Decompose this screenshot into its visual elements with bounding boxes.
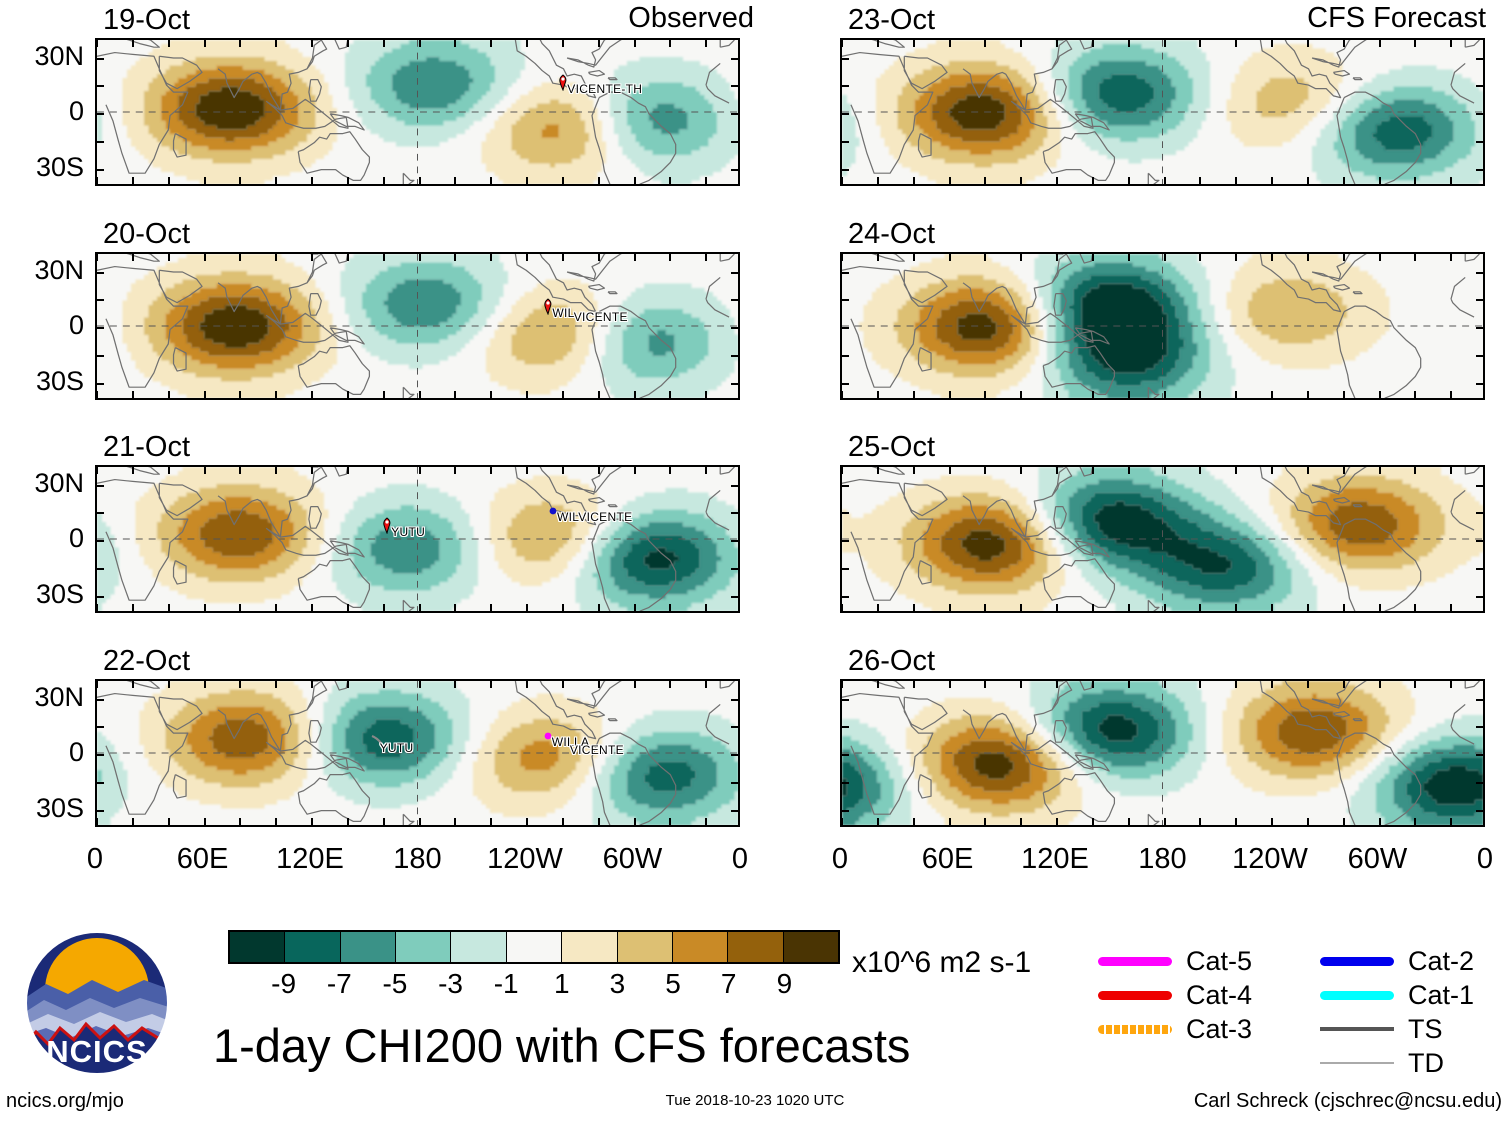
map-frame (840, 38, 1485, 186)
x-tick (454, 604, 456, 613)
x-axis-label: 180 (1108, 845, 1218, 874)
x-tick (1307, 604, 1309, 613)
y-tick (95, 169, 104, 171)
colorbar-segment (451, 932, 506, 962)
x-tick (347, 679, 349, 688)
storm-label: WILVICENTE (557, 511, 632, 523)
x-tick (1379, 38, 1381, 47)
y-tick (1476, 754, 1485, 756)
y-axis-label: 30S (0, 154, 84, 181)
y-tick (840, 383, 849, 385)
map-frame (840, 465, 1485, 613)
storm-category-legend-left: Cat-5Cat-4Cat-3 (1098, 944, 1252, 1046)
x-tick (634, 818, 636, 827)
y-tick (1476, 512, 1485, 514)
x-tick (705, 391, 707, 400)
y-tick (1476, 272, 1485, 274)
x-tick (490, 391, 492, 400)
colorbar-tick-label: -7 (309, 970, 369, 998)
x-tick (1020, 604, 1022, 613)
y-axis-label: 30N (0, 43, 84, 70)
x-tick (96, 391, 98, 400)
y-tick (95, 782, 104, 784)
x-tick (1164, 465, 1166, 474)
velocity-potential-field (97, 254, 738, 398)
x-tick (1056, 465, 1058, 474)
x-tick (1307, 391, 1309, 400)
x-tick (1056, 177, 1058, 186)
x-tick (454, 391, 456, 400)
x-tick (1450, 465, 1452, 474)
x-tick (1020, 818, 1022, 827)
x-tick (1271, 679, 1273, 688)
x-tick (562, 679, 564, 688)
y-tick (840, 754, 849, 756)
x-tick (1020, 38, 1022, 47)
y-tick (731, 141, 740, 143)
x-tick (1020, 391, 1022, 400)
panel-date-label: 25-Oct (848, 433, 935, 462)
x-axis-label: 120W (470, 845, 580, 874)
map-panel-25-oct: 25-Oct (840, 465, 1485, 613)
x-axis-label: 120E (1000, 845, 1110, 874)
y-tick (840, 540, 849, 542)
x-tick (383, 177, 385, 186)
y-axis-label: 30N (0, 684, 84, 711)
x-tick (598, 391, 600, 400)
x-tick (1271, 465, 1273, 474)
x-tick (347, 391, 349, 400)
x-tick (1164, 391, 1166, 400)
column-header-observed: Observed (628, 4, 754, 33)
y-tick (1476, 726, 1485, 728)
x-tick (598, 465, 600, 474)
x-tick (1199, 818, 1201, 827)
x-tick (841, 38, 843, 47)
x-tick (1271, 604, 1273, 613)
x-tick (168, 465, 170, 474)
x-tick (949, 465, 951, 474)
x-tick (562, 604, 564, 613)
x-tick (1092, 177, 1094, 186)
mjo-chi200-figure: 19-OctVICENTE-TH20-OctWILVICENTE21-OctYU… (0, 0, 1510, 1121)
x-tick (454, 177, 456, 186)
y-tick (731, 299, 740, 301)
x-tick (490, 604, 492, 613)
x-tick (275, 38, 277, 47)
x-tick (204, 391, 206, 400)
x-tick (204, 38, 206, 47)
x-tick (275, 604, 277, 613)
legend-row-cat-5: Cat-5 (1098, 944, 1252, 978)
x-tick (204, 679, 206, 688)
y-tick (840, 355, 849, 357)
colorbar-segment (562, 932, 617, 962)
x-tick (877, 604, 879, 613)
x-tick (1199, 252, 1201, 261)
legend-row-cat-2: Cat-2 (1320, 944, 1474, 978)
x-tick (490, 465, 492, 474)
y-tick (95, 540, 104, 542)
map-panel-20-oct: 20-OctWILVICENTE (95, 252, 740, 400)
y-axis-label: 30N (0, 470, 84, 497)
x-tick (1092, 391, 1094, 400)
colorbar: -9-7-5-3-113579 (228, 930, 840, 1030)
y-tick (1476, 327, 1485, 329)
x-tick (311, 679, 313, 688)
x-tick (1343, 679, 1345, 688)
colorbar-segment (230, 932, 285, 962)
x-tick (490, 252, 492, 261)
x-tick (984, 679, 986, 688)
y-tick (1476, 169, 1485, 171)
x-tick (239, 252, 241, 261)
x-tick (1235, 252, 1237, 261)
y-axis-label: 0 (0, 98, 84, 125)
x-tick (1414, 177, 1416, 186)
x-tick (877, 465, 879, 474)
legend-color-swatch (1098, 957, 1172, 966)
x-tick (1128, 679, 1130, 688)
footer-timestamp: Tue 2018-10-23 1020 UTC (666, 1093, 845, 1108)
legend-label: TD (1408, 1050, 1444, 1077)
x-tick (1450, 604, 1452, 613)
colorbar-segment (728, 932, 783, 962)
legend-color-swatch (1098, 1025, 1172, 1034)
x-tick (96, 38, 98, 47)
storm-label: VICENTE (570, 744, 624, 756)
legend-row-cat-3: Cat-3 (1098, 1012, 1252, 1046)
x-tick (1128, 391, 1130, 400)
x-tick (454, 818, 456, 827)
x-tick (913, 818, 915, 827)
x-tick (1092, 679, 1094, 688)
x-tick (1450, 177, 1452, 186)
map-panel-26-oct: 26-Oct (840, 679, 1485, 827)
x-tick (383, 604, 385, 613)
y-tick (840, 85, 849, 87)
y-tick (1476, 85, 1485, 87)
panel-date-label: 24-Oct (848, 220, 935, 249)
y-tick (95, 699, 104, 701)
y-tick (731, 383, 740, 385)
x-tick (311, 391, 313, 400)
x-tick (1379, 679, 1381, 688)
x-tick (913, 465, 915, 474)
x-tick (1307, 252, 1309, 261)
colorbar-units-label: x10^6 m2 s-1 (852, 948, 1031, 978)
colorbar-tick-label: 1 (532, 970, 592, 998)
x-tick (204, 465, 206, 474)
x-tick (913, 252, 915, 261)
x-tick (132, 604, 134, 613)
x-tick (913, 391, 915, 400)
x-tick (204, 177, 206, 186)
y-tick (95, 58, 104, 60)
storm-category-legend-right: Cat-2Cat-1TSTD (1320, 944, 1474, 1080)
x-tick (347, 252, 349, 261)
x-tick (669, 177, 671, 186)
x-tick (562, 391, 564, 400)
x-tick (1128, 604, 1130, 613)
x-tick (132, 818, 134, 827)
x-tick (419, 679, 421, 688)
y-tick (95, 113, 104, 115)
x-tick (949, 252, 951, 261)
x-tick (347, 465, 349, 474)
colorbar-tick-label: 3 (587, 970, 647, 998)
x-tick (841, 604, 843, 613)
storm-label: WIL (552, 307, 574, 319)
x-tick (984, 252, 986, 261)
x-tick (1199, 679, 1201, 688)
x-axis-label: 120E (255, 845, 365, 874)
map-frame (840, 679, 1485, 827)
map-panel-24-oct: 24-Oct (840, 252, 1485, 400)
x-tick (705, 818, 707, 827)
x-tick (598, 177, 600, 186)
x-tick (1092, 818, 1094, 827)
x-tick (490, 38, 492, 47)
x-axis-label: 120W (1215, 845, 1325, 874)
x-tick (1450, 252, 1452, 261)
x-tick (669, 604, 671, 613)
y-tick (95, 726, 104, 728)
x-tick (984, 391, 986, 400)
y-axis-label: 30S (0, 581, 84, 608)
panel-date-label: 20-Oct (103, 220, 190, 249)
x-tick (383, 818, 385, 827)
x-tick (669, 465, 671, 474)
x-tick (1307, 818, 1309, 827)
footer-site-link[interactable]: ncics.org/mjo (6, 1091, 124, 1111)
x-tick (96, 679, 98, 688)
x-tick (383, 465, 385, 474)
y-tick (840, 512, 849, 514)
footer-author[interactable]: Carl Schreck (cjschrec@ncsu.edu) (1194, 1091, 1502, 1111)
panel-date-label: 22-Oct (103, 647, 190, 676)
map-frame (95, 38, 740, 186)
x-tick (1414, 38, 1416, 47)
x-tick (347, 38, 349, 47)
x-tick (168, 818, 170, 827)
x-tick (132, 38, 134, 47)
x-tick (841, 391, 843, 400)
x-tick (1235, 604, 1237, 613)
x-tick (311, 38, 313, 47)
map-panel-19-oct: 19-OctVICENTE-TH (95, 38, 740, 186)
x-tick (132, 177, 134, 186)
x-tick (526, 818, 528, 827)
x-tick (1379, 465, 1381, 474)
y-axis-label: 30S (0, 795, 84, 822)
legend-label: Cat-4 (1186, 982, 1252, 1009)
x-tick (311, 818, 313, 827)
y-tick (731, 596, 740, 598)
x-tick (1092, 604, 1094, 613)
x-tick (562, 465, 564, 474)
y-tick (731, 568, 740, 570)
x-tick (705, 604, 707, 613)
velocity-potential-field (97, 681, 738, 825)
x-tick (419, 818, 421, 827)
x-tick (1271, 177, 1273, 186)
x-tick (1199, 604, 1201, 613)
x-tick (168, 391, 170, 400)
x-tick (526, 252, 528, 261)
x-tick (1450, 818, 1452, 827)
x-tick (239, 818, 241, 827)
x-tick (598, 679, 600, 688)
x-tick (598, 604, 600, 613)
x-tick (949, 391, 951, 400)
x-tick (598, 252, 600, 261)
x-axis-label: 60W (1323, 845, 1433, 874)
y-tick (731, 327, 740, 329)
map-panel-23-oct: 23-Oct (840, 38, 1485, 186)
x-tick (132, 391, 134, 400)
x-tick (1414, 391, 1416, 400)
x-tick (96, 177, 98, 186)
x-tick (1020, 465, 1022, 474)
x-axis-label: 60E (148, 845, 258, 874)
y-tick (95, 568, 104, 570)
y-tick (1476, 810, 1485, 812)
y-tick (840, 568, 849, 570)
y-tick (1476, 141, 1485, 143)
x-tick (634, 38, 636, 47)
x-tick (454, 38, 456, 47)
colorbar-tick-label: 7 (699, 970, 759, 998)
x-tick (275, 818, 277, 827)
map-panel-22-oct: 22-OctYUTUWILLAVICENTE (95, 679, 740, 827)
x-tick (1128, 252, 1130, 261)
x-tick (877, 38, 879, 47)
legend-color-swatch (1320, 1027, 1394, 1031)
colorbar-segment (285, 932, 340, 962)
y-axis-label: 0 (0, 312, 84, 339)
y-tick (95, 512, 104, 514)
y-tick (840, 113, 849, 115)
y-tick (840, 58, 849, 60)
velocity-potential-field (97, 467, 738, 611)
colorbar-segment (507, 932, 562, 962)
x-tick (490, 818, 492, 827)
panel-date-label: 19-Oct (103, 6, 190, 35)
x-tick (1271, 391, 1273, 400)
x-tick (705, 679, 707, 688)
x-tick (1056, 252, 1058, 261)
x-tick (347, 177, 349, 186)
legend-label: Cat-1 (1408, 982, 1474, 1009)
y-tick (731, 699, 740, 701)
y-tick (840, 169, 849, 171)
y-tick (95, 810, 104, 812)
x-tick (841, 818, 843, 827)
y-tick (840, 782, 849, 784)
x-tick (634, 465, 636, 474)
x-tick (1379, 177, 1381, 186)
x-tick (347, 604, 349, 613)
y-tick (840, 596, 849, 598)
x-tick (1379, 818, 1381, 827)
legend-row-ts: TS (1320, 1012, 1474, 1046)
x-tick (1020, 679, 1022, 688)
x-tick (562, 252, 564, 261)
y-tick (840, 272, 849, 274)
y-tick (1476, 113, 1485, 115)
x-tick (383, 252, 385, 261)
x-tick (1199, 391, 1201, 400)
x-tick (705, 177, 707, 186)
velocity-potential-field (842, 681, 1483, 825)
x-tick (168, 38, 170, 47)
x-tick (1450, 38, 1452, 47)
x-tick (347, 818, 349, 827)
x-tick (1307, 177, 1309, 186)
x-tick (1235, 391, 1237, 400)
x-tick (1307, 679, 1309, 688)
x-tick (705, 252, 707, 261)
y-tick (731, 58, 740, 60)
legend-color-swatch (1320, 957, 1394, 966)
x-axis-label: 180 (363, 845, 473, 874)
x-tick (1343, 252, 1345, 261)
y-tick (840, 299, 849, 301)
x-tick (419, 38, 421, 47)
x-tick (877, 252, 879, 261)
x-tick (204, 252, 206, 261)
x-tick (669, 679, 671, 688)
x-tick (984, 38, 986, 47)
x-tick (1056, 391, 1058, 400)
y-tick (731, 540, 740, 542)
map-frame (95, 465, 740, 613)
x-tick (1379, 252, 1381, 261)
y-tick (95, 383, 104, 385)
x-tick (419, 604, 421, 613)
x-tick (841, 252, 843, 261)
x-tick (705, 38, 707, 47)
colorbar-tick-label: -9 (254, 970, 314, 998)
colorbar-tick-label: 9 (754, 970, 814, 998)
y-axis-label: 30N (0, 257, 84, 284)
x-tick (526, 391, 528, 400)
x-tick (239, 604, 241, 613)
colorbar-segment (618, 932, 673, 962)
y-tick (1476, 540, 1485, 542)
x-tick (1414, 818, 1416, 827)
storm-label: YUTU (391, 526, 425, 538)
legend-row-cat-1: Cat-1 (1320, 978, 1474, 1012)
y-tick (731, 754, 740, 756)
y-tick (1476, 383, 1485, 385)
x-tick (949, 604, 951, 613)
x-tick (1235, 679, 1237, 688)
y-tick (731, 85, 740, 87)
x-tick (311, 465, 313, 474)
x-tick (1235, 465, 1237, 474)
legend-color-swatch (1320, 991, 1394, 1000)
y-tick (95, 272, 104, 274)
y-tick (95, 299, 104, 301)
colorbar-segment (784, 932, 838, 962)
x-tick (1379, 604, 1381, 613)
x-tick (275, 465, 277, 474)
y-tick (95, 141, 104, 143)
x-tick (1414, 679, 1416, 688)
x-tick (1271, 38, 1273, 47)
